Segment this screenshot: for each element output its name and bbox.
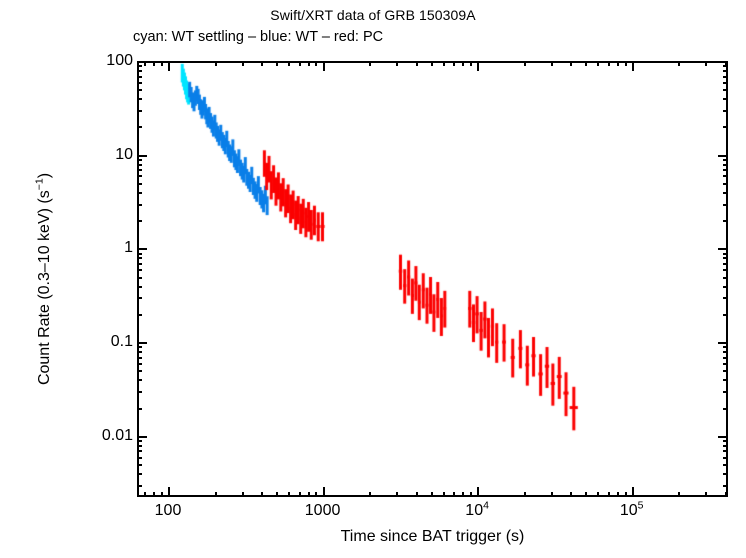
axis-tick [477,61,479,71]
axis-tick [723,457,728,459]
figure-subtitle: cyan: WT settling – blue: WT – red: PC [133,29,613,46]
axis-tick [725,492,727,497]
axis-tick [288,492,290,497]
axis-tick [723,192,728,194]
axis-tick [261,61,263,66]
axis-tick [137,169,142,171]
axis-tick [137,445,142,447]
axis-tick [137,351,142,353]
axis-tick [299,492,301,497]
axis-tick [718,248,728,250]
axis-tick [477,487,479,497]
y-axis-title-text: Count Rate (0.3–10 keV) (s [36,190,53,385]
axis-tick [585,492,587,497]
axis-tick [551,61,553,66]
x-tick-label-exponent: 4 [483,500,489,512]
axis-tick [443,61,445,66]
axis-tick [137,65,142,67]
axis-tick [723,363,728,365]
axis-tick [723,89,728,91]
x-tick-label-exponent: 5 [638,500,644,512]
axis-tick [137,159,142,161]
axis-tick [396,492,398,497]
axis-tick [705,61,707,66]
axis-tick [161,61,163,66]
axis-tick [524,492,526,497]
axis-tick [299,61,301,66]
axis-tick [723,357,728,359]
axis-tick [608,492,610,497]
axis-tick [470,492,472,497]
axis-tick [723,314,728,316]
axis-tick [551,492,553,497]
axis-tick [137,89,142,91]
axis-tick [723,220,728,222]
figure-root: Swift/XRT data of GRB 150309A cyan: WT s… [0,0,746,558]
axis-tick [597,61,599,66]
axis-tick [308,492,310,497]
axis-tick [323,61,325,71]
axis-tick [632,487,634,497]
y-tick-label: 100 [33,52,133,70]
axis-tick [215,61,217,66]
axis-tick [678,61,680,66]
axis-tick [723,408,728,410]
plot-area [137,61,728,497]
x-tick-label: 100 [155,502,182,520]
axis-tick [723,175,728,177]
x-tick-label-mantissa: 10 [465,502,483,519]
axis-tick [718,436,728,438]
axis-tick [723,277,728,279]
axis-tick [570,492,572,497]
axis-tick [315,492,317,497]
axis-tick [723,370,728,372]
axis-tick [137,269,142,271]
axis-tick [137,110,142,112]
axis-tick [723,110,728,112]
axis-tick [137,175,142,177]
axis-tick [168,61,170,71]
axis-tick [431,61,433,66]
axis-tick [315,61,317,66]
axis-tick [723,464,728,466]
axis-tick [153,492,155,497]
axis-tick [723,82,728,84]
axis-tick [288,61,290,66]
axis-tick [261,492,263,497]
axis-tick [723,297,728,299]
axis-tick [323,487,325,497]
axis-tick [242,492,244,497]
axis-tick [137,263,142,265]
axis-tick [153,61,155,66]
axis-tick [723,450,728,452]
axis-tick [137,436,147,438]
axis-tick [608,61,610,66]
axis-tick [718,342,728,344]
axis-tick [137,485,142,487]
axis-tick [137,314,142,316]
x-tick-label-mantissa: 10 [620,502,638,519]
axis-tick [723,445,728,447]
axis-tick [308,61,310,66]
axis-tick [453,492,455,497]
axis-tick [723,440,728,442]
axis-tick [723,379,728,381]
axis-tick [416,492,418,497]
x-tick-label: 105 [620,502,644,520]
axis-tick [570,61,572,66]
axis-tick [585,61,587,66]
axis-tick [462,61,464,66]
axis-tick [137,450,142,452]
axis-tick [723,76,728,78]
axis-tick [137,192,142,194]
axis-tick [470,61,472,66]
axis-tick [137,297,142,299]
axis-tick [276,492,278,497]
axis-tick [137,82,142,84]
axis-tick [617,61,619,66]
axis-tick [137,253,142,255]
y-axis-title-tail: ) [36,173,53,178]
axis-tick [723,346,728,348]
axis-tick [137,257,142,259]
axis-tick [416,61,418,66]
axis-tick [723,70,728,72]
axis-tick [137,61,147,63]
axis-tick [723,263,728,265]
x-tick-label: 104 [465,502,489,520]
axis-tick [161,492,163,497]
axis-tick [524,61,526,66]
axis-tick [723,485,728,487]
axis-tick [137,76,142,78]
axis-tick [137,183,142,185]
axis-tick [453,61,455,66]
axis-tick [723,286,728,288]
axis-tick [276,61,278,66]
axis-tick [723,126,728,128]
axis-tick [137,70,142,72]
axis-tick [137,370,142,372]
axis-tick [723,391,728,393]
axis-tick [723,253,728,255]
axis-tick [137,408,142,410]
axis-tick [215,492,217,497]
axis-tick [137,464,142,466]
axis-tick [723,351,728,353]
axis-tick [723,98,728,100]
axis-tick [705,492,707,497]
axis-tick [137,379,142,381]
y-axis-title: Count Rate (0.3–10 keV) (s−1) [36,79,54,479]
axis-tick [137,98,142,100]
axis-tick [137,204,142,206]
axis-tick [137,248,147,250]
axis-tick [137,277,142,279]
axis-tick [144,492,146,497]
axis-tick [137,342,147,344]
x-axis-title: Time since BAT trigger (s) [137,528,728,546]
axis-tick [723,65,728,67]
y-axis-title-exponent: −1 [34,178,46,190]
axis-tick [242,61,244,66]
axis-tick [137,155,147,157]
x-tick-label: 1000 [305,502,341,520]
axis-tick [431,492,433,497]
axis-tick [137,164,142,166]
axis-tick [723,159,728,161]
axis-tick [137,391,142,393]
axis-tick [137,357,142,359]
axis-tick [396,61,398,66]
axis-tick [369,61,371,66]
axis-tick [723,164,728,166]
axis-tick [137,363,142,365]
axis-tick [632,61,634,71]
axis-tick [723,169,728,171]
axis-tick [137,457,142,459]
axis-tick [625,492,627,497]
axis-tick [625,61,627,66]
axis-tick [168,487,170,497]
data-canvas [139,63,730,499]
axis-tick [718,61,728,63]
axis-tick [137,346,142,348]
axis-tick [137,440,142,442]
axis-tick [443,492,445,497]
axis-tick [723,183,728,185]
axis-tick [137,286,142,288]
axis-tick [723,269,728,271]
axis-tick [369,492,371,497]
axis-tick [137,126,142,128]
axis-tick [718,155,728,157]
axis-tick [723,257,728,259]
axis-tick [723,204,728,206]
axis-tick [137,220,142,222]
axis-tick [462,492,464,497]
axis-tick [617,492,619,497]
axis-tick [597,492,599,497]
axis-tick [723,473,728,475]
axis-tick [137,473,142,475]
axis-tick [678,492,680,497]
